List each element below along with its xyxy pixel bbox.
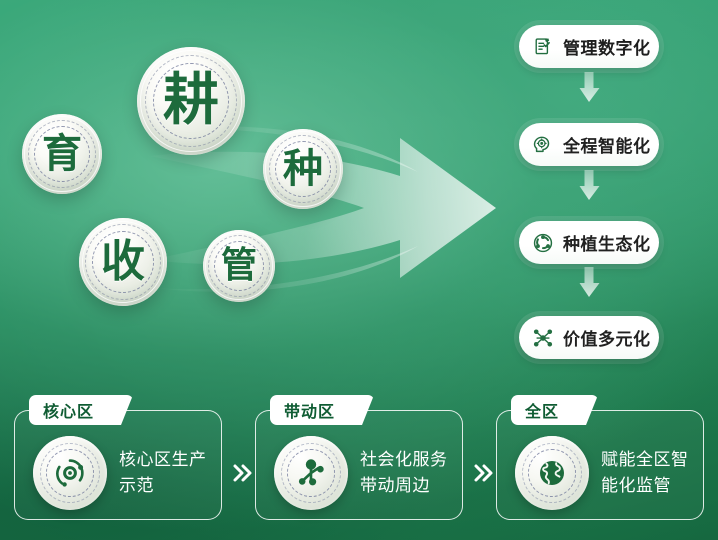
cycle-badge-label: 耕 bbox=[163, 73, 219, 129]
down-arrow-icon bbox=[576, 267, 602, 297]
zone-tab-driving: 带动区 bbox=[270, 395, 361, 425]
zone-card-line2: 带动周边 bbox=[360, 473, 448, 499]
zone-card-line2: 能化监管 bbox=[601, 473, 689, 499]
infographic-canvas: 育 耕 种 收 管 管理数字化 全程智能化 bbox=[0, 0, 718, 540]
outcome-pill-label: 种植生态化 bbox=[563, 230, 651, 255]
zone-medal-core bbox=[33, 436, 107, 510]
zone-card-body: 核心区生产 示范 bbox=[15, 425, 221, 521]
ai-head-icon bbox=[532, 134, 554, 156]
cycle-badge-yu[interactable]: 育 bbox=[22, 114, 102, 194]
zone-card-line2: 示范 bbox=[119, 473, 207, 499]
zone-card-line1: 赋能全区智 bbox=[601, 447, 689, 473]
down-arrow-icon bbox=[576, 170, 602, 200]
zone-tab-label: 全区 bbox=[525, 398, 559, 422]
outcome-pill-label: 全程智能化 bbox=[563, 132, 651, 157]
outcome-pill-full-intelligence[interactable]: 全程智能化 bbox=[519, 123, 659, 166]
zone-tab-whole-district: 全区 bbox=[511, 395, 585, 425]
zone-card-line1: 核心区生产 bbox=[119, 447, 207, 473]
cycle-badge-geng[interactable]: 耕 bbox=[137, 47, 245, 155]
cycle-badge-shou[interactable]: 收 bbox=[79, 218, 167, 306]
double-chevron-right-icon bbox=[232, 462, 254, 484]
outcome-pill-label: 价值多元化 bbox=[563, 325, 651, 350]
zone-medal-driving bbox=[274, 436, 348, 510]
zone-card-body: 赋能全区智 能化监管 bbox=[497, 425, 703, 521]
outcome-pill-label: 管理数字化 bbox=[563, 34, 651, 59]
cycle-badge-zhong[interactable]: 种 bbox=[263, 129, 343, 209]
cycle-badge-label: 育 bbox=[42, 134, 82, 174]
outcome-pill-value-diversified[interactable]: 价值多元化 bbox=[519, 316, 659, 359]
molecule-node-icon bbox=[291, 453, 331, 493]
zone-tab-label: 带动区 bbox=[284, 398, 335, 422]
zone-card-body: 社会化服务 带动周边 bbox=[256, 425, 462, 521]
down-arrow-icon bbox=[576, 72, 602, 102]
zone-card-text: 核心区生产 示范 bbox=[119, 447, 207, 500]
zone-tab-core: 核心区 bbox=[29, 395, 120, 425]
clipboard-checklist-icon bbox=[532, 36, 554, 58]
zone-card-driving[interactable]: 带动区 社会化服务 带动周边 bbox=[255, 410, 463, 520]
outcome-pill-management-digital[interactable]: 管理数字化 bbox=[519, 25, 659, 68]
zone-card-text: 赋能全区智 能化监管 bbox=[601, 447, 689, 500]
zone-card-text: 社会化服务 带动周边 bbox=[360, 447, 448, 500]
cycle-badge-guan[interactable]: 管 bbox=[203, 230, 275, 302]
zone-medal-whole-district bbox=[515, 436, 589, 510]
outcome-pill-planting-eco[interactable]: 种植生态化 bbox=[519, 221, 659, 264]
globe-earth-icon bbox=[532, 453, 572, 493]
cycle-badge-label: 管 bbox=[221, 248, 257, 284]
zone-card-whole-district[interactable]: 全区 赋能全区智 能化监管 bbox=[496, 410, 704, 520]
cycle-badge-label: 种 bbox=[283, 149, 323, 189]
zone-tab-label: 核心区 bbox=[43, 398, 94, 422]
recycle-circle-icon bbox=[532, 232, 554, 254]
orbit-target-icon bbox=[50, 453, 90, 493]
cycle-badge-label: 收 bbox=[101, 240, 145, 284]
double-chevron-right-icon bbox=[473, 462, 495, 484]
zone-card-line1: 社会化服务 bbox=[360, 447, 448, 473]
zone-card-core[interactable]: 核心区 核心区生产 示范 bbox=[14, 410, 222, 520]
network-nodes-icon bbox=[532, 327, 554, 349]
